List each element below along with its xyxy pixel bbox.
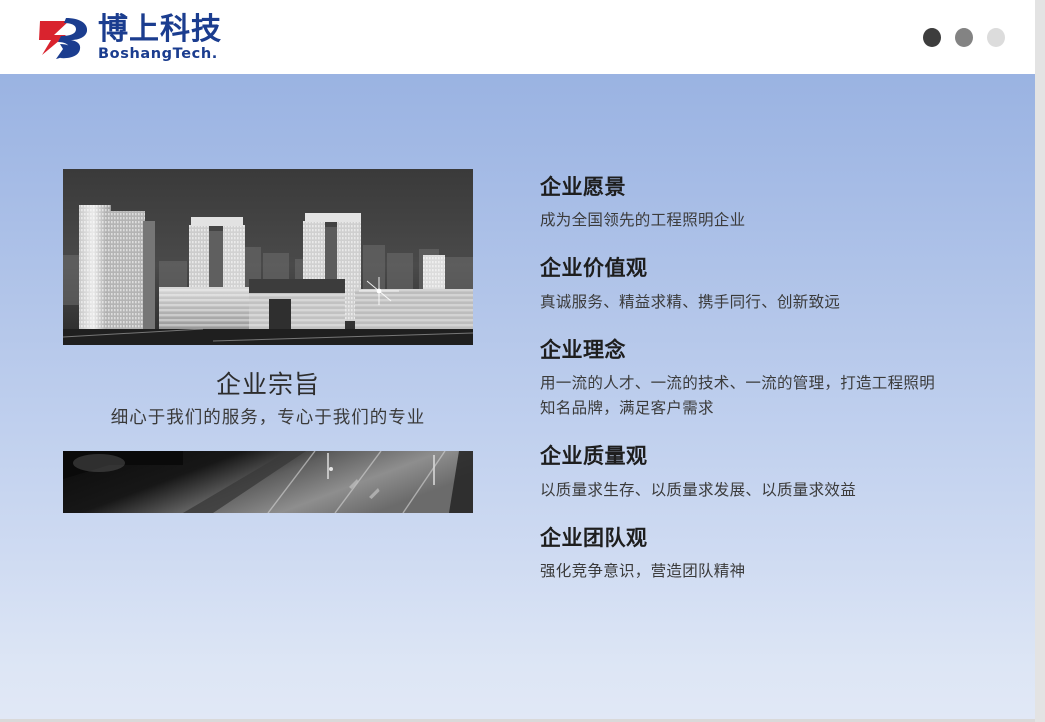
value-block-quality: 企业质量观 以质量求生存、以质量求发展、以质量求效益	[540, 443, 970, 502]
value-title-philosophy: 企业理念	[540, 337, 970, 364]
value-desc-philosophy: 用一流的人才、一流的技术、一流的管理，打造工程照明知名品牌，满足客户需求	[540, 371, 940, 421]
aerial-highway-photo	[63, 451, 473, 513]
site-header: 博上科技 BoshangTech.	[0, 0, 1035, 74]
value-desc-vision: 成为全国领先的工程照明企业	[540, 208, 940, 233]
value-title-quality: 企业质量观	[540, 443, 970, 470]
pagination-dot-3[interactable]	[987, 28, 1005, 47]
company-purpose-title: 企业宗旨	[63, 369, 473, 400]
page-scrollbar[interactable]	[1035, 0, 1045, 722]
brand-logo-text: 博上科技 BoshangTech.	[98, 14, 222, 62]
value-title-core-values: 企业价值观	[540, 255, 970, 282]
company-purpose-desc: 细心于我们的服务，专心于我们的专业	[63, 405, 473, 431]
right-column: 企业愿景 成为全国领先的工程照明企业 企业价值观 真诚服务、精益求精、携手同行、…	[540, 174, 970, 584]
brand-name-en: BoshangTech.	[98, 47, 222, 62]
boshang-logo-mark-icon	[36, 14, 92, 62]
value-block-team: 企业团队观 强化竞争意识，营造团队精神	[540, 525, 970, 584]
value-desc-team: 强化竞争意识，营造团队精神	[540, 559, 940, 584]
company-purpose-block: 企业宗旨 细心于我们的服务，专心于我们的专业	[63, 369, 473, 432]
pagination-dot-2[interactable]	[955, 28, 973, 47]
value-desc-core-values: 真诚服务、精益求精、携手同行、创新致远	[540, 290, 940, 315]
value-block-philosophy: 企业理念 用一流的人才、一流的技术、一流的管理，打造工程照明知名品牌，满足客户需…	[540, 337, 970, 422]
pagination-dots[interactable]	[923, 28, 1005, 47]
city-skyline-night-photo	[63, 169, 473, 345]
value-title-team: 企业团队观	[540, 525, 970, 552]
value-title-vision: 企业愿景	[540, 174, 970, 201]
value-block-vision: 企业愿景 成为全国领先的工程照明企业	[540, 174, 970, 233]
slide-content: 企业宗旨 细心于我们的服务，专心于我们的专业	[0, 74, 1035, 719]
value-block-core-values: 企业价值观 真诚服务、精益求精、携手同行、创新致远	[540, 255, 970, 314]
slide-page: 博上科技 BoshangTech.	[0, 0, 1045, 722]
pagination-dot-1[interactable]	[923, 28, 941, 47]
brand-name-cn: 博上科技	[98, 14, 222, 45]
value-desc-quality: 以质量求生存、以质量求发展、以质量求效益	[540, 478, 940, 503]
brand-logo[interactable]: 博上科技 BoshangTech.	[36, 13, 222, 63]
left-column: 企业宗旨 细心于我们的服务，专心于我们的专业	[63, 169, 473, 513]
